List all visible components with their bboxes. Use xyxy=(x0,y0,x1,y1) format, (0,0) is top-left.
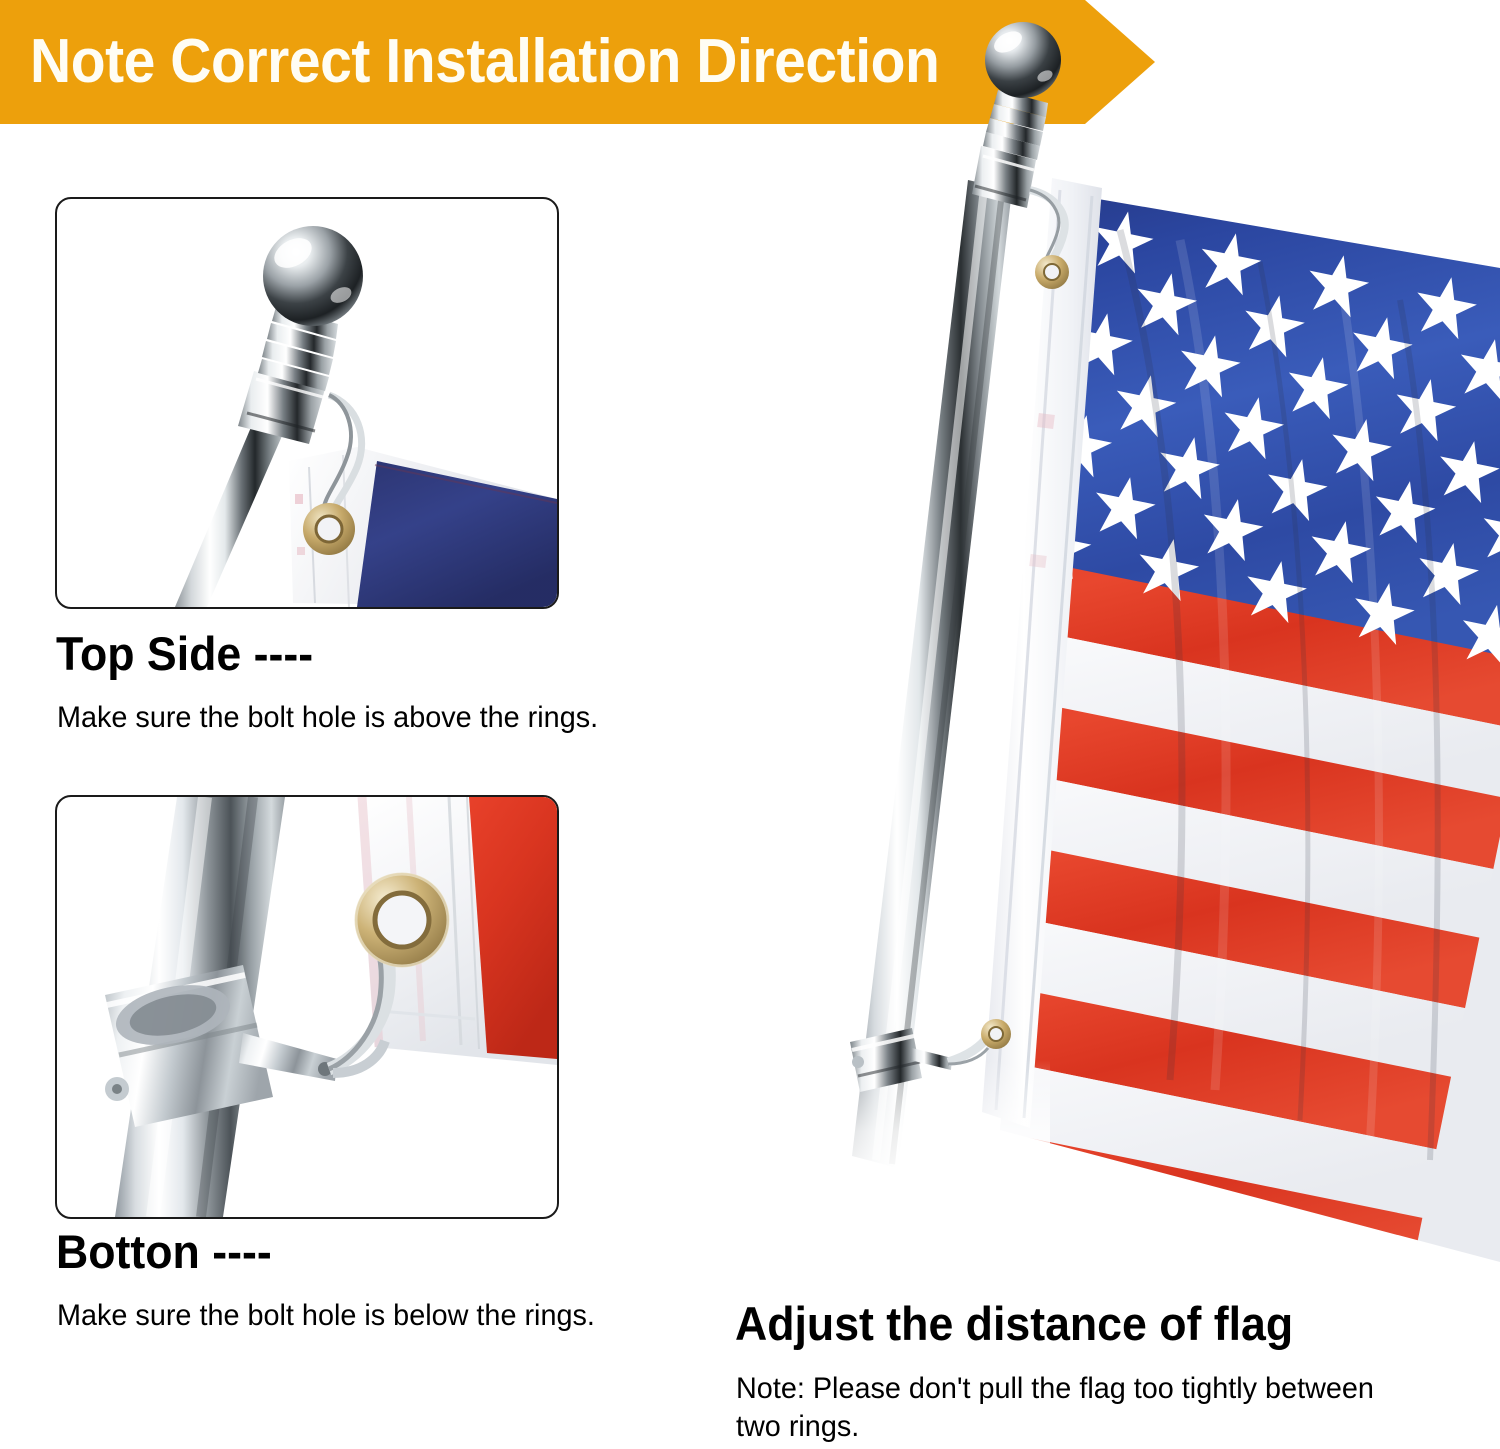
lower-flag-grommet xyxy=(981,1019,1011,1049)
flag-grommet xyxy=(355,873,449,967)
flag-grommet xyxy=(303,503,355,555)
bottom-side-photo-panel xyxy=(55,795,559,1219)
pole-ring-clamp xyxy=(105,965,337,1127)
top-side-heading: Top Side ---- xyxy=(56,630,313,677)
pole-ring-clamp-illustration xyxy=(57,797,557,1217)
flag-and-pole-illustration xyxy=(700,0,1500,1449)
top-side-photo-panel xyxy=(55,197,559,609)
flagpole-with-us-flag-photo xyxy=(700,0,1500,1449)
bottom-side-heading: Botton ---- xyxy=(56,1228,272,1275)
bottom-side-caption: Make sure the bolt hole is below the rin… xyxy=(57,1298,595,1335)
upper-flag-grommet xyxy=(1035,255,1069,289)
adjust-distance-heading: Adjust the distance of flag xyxy=(735,1300,1293,1347)
flagpole-ring-clamp-closeup-photo xyxy=(57,797,557,1217)
ball-finial xyxy=(263,226,363,326)
ball-finial xyxy=(985,22,1061,98)
adjust-distance-caption: Note: Please don't pull the flag too tig… xyxy=(736,1370,1389,1446)
flagpole-top-closeup-photo xyxy=(57,199,557,607)
lower-snap-hook-clip xyxy=(948,1036,988,1064)
flagpole-top-illustration xyxy=(57,199,557,607)
top-side-caption: Make sure the bolt hole is above the rin… xyxy=(57,700,598,737)
